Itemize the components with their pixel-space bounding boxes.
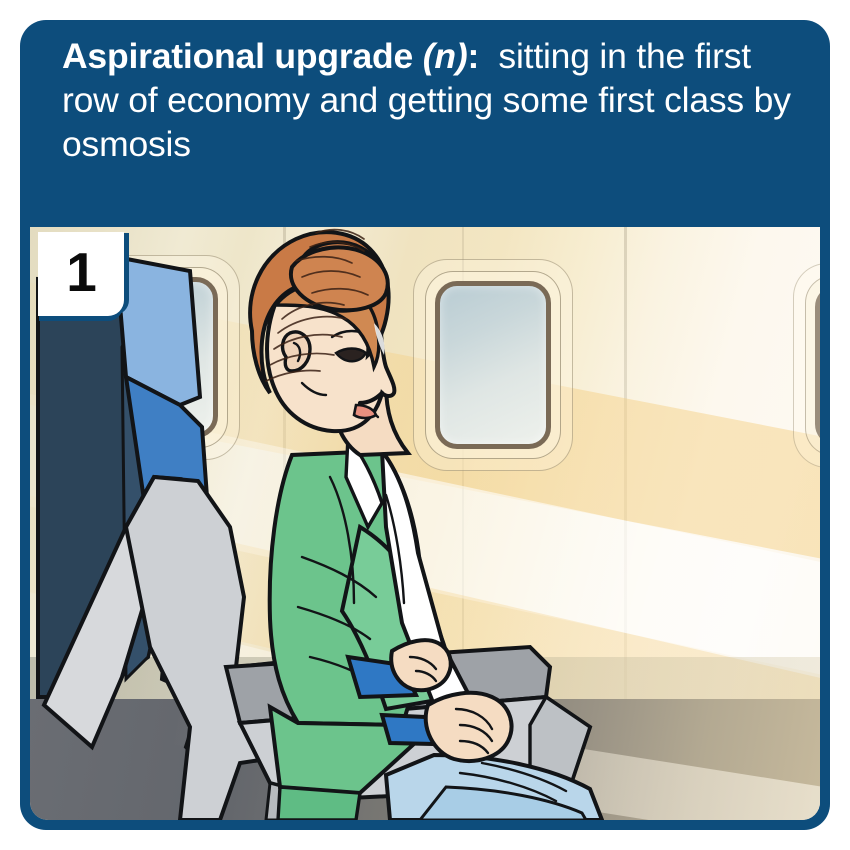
term-text: Aspirational upgrade [62, 36, 413, 76]
space-1 [413, 36, 423, 76]
step-number-badge: 1 [38, 232, 124, 316]
colon-text: : [467, 36, 479, 76]
definition-card: Aspirational upgrade (n): sitting in the… [20, 20, 830, 830]
illustration: 1 [30, 227, 820, 820]
part-of-speech-text: (n) [423, 36, 468, 76]
page-title: Aspirational upgrade (n): sitting in the… [62, 34, 806, 167]
passenger-head [250, 230, 408, 455]
space-2 [479, 36, 498, 76]
step-number: 1 [66, 245, 96, 300]
scene-vector-art [30, 227, 820, 820]
card-header: Aspirational upgrade (n): sitting in the… [20, 20, 830, 227]
